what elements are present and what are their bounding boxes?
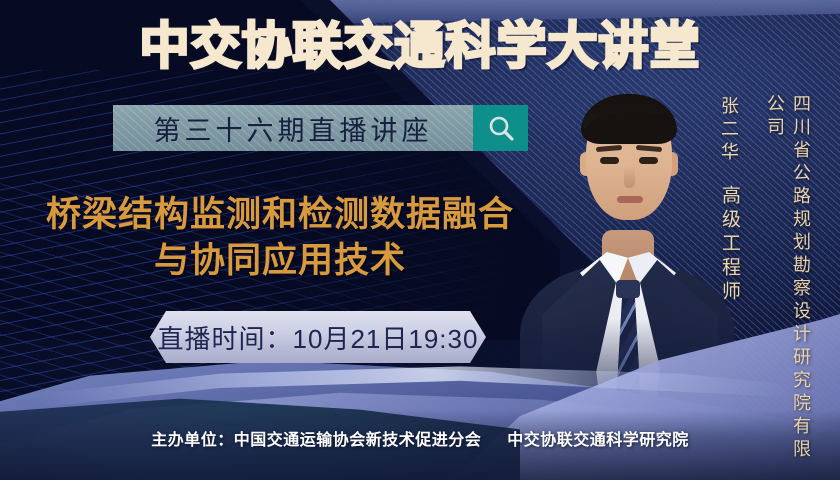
episode-banner: 第三十六期直播讲座 bbox=[113, 105, 528, 151]
organizer-secondary: 中交协联交通科学研究院 bbox=[507, 426, 689, 450]
broadcast-time-text: 直播时间：10月21日19:30 bbox=[158, 319, 479, 356]
organizers-label: 主办单位： bbox=[151, 426, 234, 450]
organizers-line: 主办单位：中国交通运输协会新技术促进分会中交协联交通科学研究院 bbox=[0, 426, 840, 450]
poster-canvas: 中交协联交通科学大讲堂 第三十六期直播讲座 桥梁结构监测和检测数据融合 与协同应… bbox=[0, 0, 840, 480]
speaker-role: 高级工程师 bbox=[716, 185, 743, 305]
search-icon[interactable] bbox=[473, 105, 528, 151]
lecture-topic-line1: 桥梁结构监测和检测数据融合 bbox=[46, 195, 514, 234]
episode-banner-label: 第三十六期直播讲座 bbox=[154, 109, 433, 148]
lecture-topic: 桥梁结构监测和检测数据融合 与协同应用技术 bbox=[20, 192, 540, 284]
lecture-topic-line2: 与协同应用技术 bbox=[20, 238, 540, 284]
speaker-name: 张二华 bbox=[716, 96, 742, 165]
episode-banner-body: 第三十六期直播讲座 bbox=[113, 105, 473, 151]
speaker-organization: 四川省公路规划勘察设计研究院有限公司 bbox=[762, 94, 814, 480]
page-title: 中交协联交通科学大讲堂 bbox=[0, 18, 840, 74]
organizer-primary: 中国交通运输协会新技术促进分会 bbox=[234, 426, 482, 450]
broadcast-time-chip: 直播时间：10月21日19:30 bbox=[150, 311, 486, 363]
